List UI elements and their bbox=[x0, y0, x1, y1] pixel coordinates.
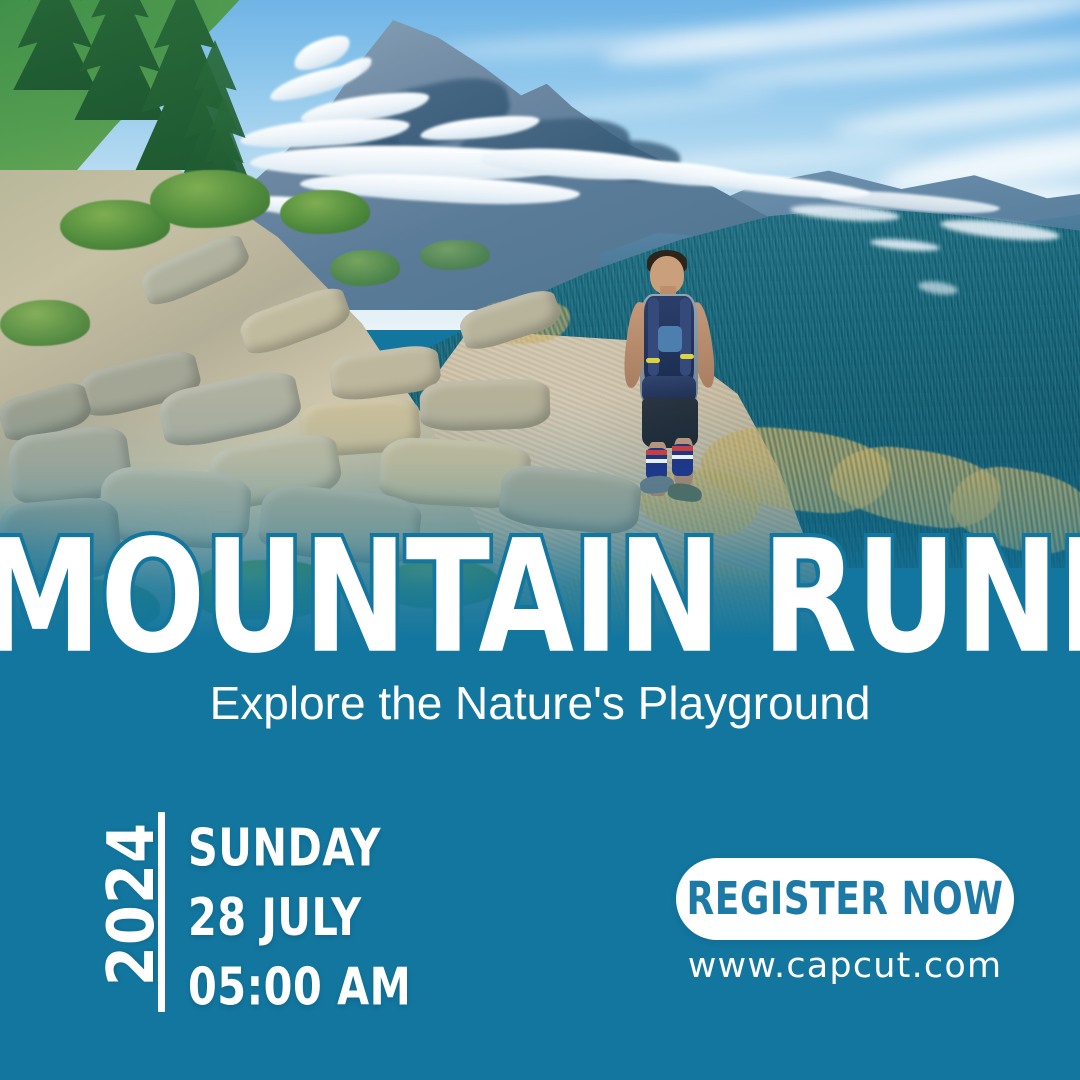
shrub bbox=[330, 250, 400, 286]
vertical-divider bbox=[158, 812, 165, 1012]
sock-stripe bbox=[672, 455, 693, 459]
vest-logo bbox=[658, 326, 682, 352]
shrub bbox=[420, 240, 490, 270]
event-datetime-block: 2024 SUNDAY 28 JULY 05:00 AM bbox=[70, 805, 490, 1020]
event-poster: MOUNTAIN RUNNING Explore the Nature's Pl… bbox=[0, 0, 1080, 1080]
sock-stripe bbox=[646, 459, 667, 463]
shrub bbox=[150, 170, 270, 228]
sock-stripe bbox=[672, 446, 693, 451]
shrub bbox=[0, 300, 90, 346]
website-url[interactable]: www.capcut.com bbox=[676, 946, 1014, 986]
shrub bbox=[280, 190, 370, 234]
event-time: 05:00 AM bbox=[188, 952, 411, 1021]
vest-accent bbox=[680, 354, 694, 359]
rock bbox=[419, 378, 551, 433]
sock-stripe bbox=[646, 450, 667, 455]
register-button-label: REGISTER NOW bbox=[687, 873, 1004, 925]
event-date: 28 JULY bbox=[188, 882, 411, 951]
register-now-button[interactable]: REGISTER NOW bbox=[676, 858, 1014, 940]
poster-subtitle: Explore the Nature's Playground bbox=[0, 676, 1080, 730]
vest-accent bbox=[646, 358, 660, 363]
trail-runner bbox=[614, 250, 724, 500]
poster-title: MOUNTAIN RUNNING bbox=[0, 528, 1080, 667]
event-day: SUNDAY bbox=[188, 813, 411, 882]
event-schedule: SUNDAY 28 JULY 05:00 AM bbox=[188, 813, 411, 1021]
